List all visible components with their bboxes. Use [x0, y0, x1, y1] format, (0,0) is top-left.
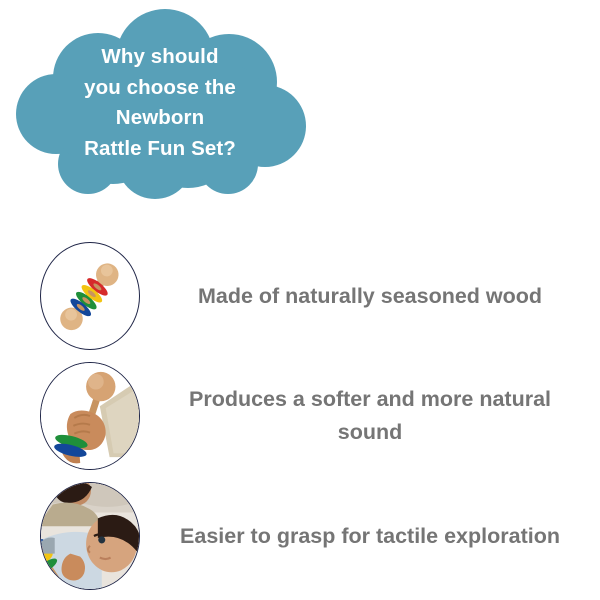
- feature-label: Easier to grasp for tactile exploration: [160, 476, 580, 596]
- callout-title: Why should you choose the Newborn Rattle…: [10, 42, 310, 164]
- wooden-rattle-icon: [41, 243, 139, 349]
- feature-row: Produces a softer and more natural sound: [0, 356, 600, 476]
- hand-holding-rattle-icon: [41, 363, 139, 469]
- feature-list: Made of naturally seasoned wood Produces…: [0, 236, 600, 596]
- feature-thumbnail-1: [40, 242, 140, 350]
- feature-row: Easier to grasp for tactile exploration: [0, 476, 600, 596]
- feature-row: Made of naturally seasoned wood: [0, 236, 600, 356]
- feature-thumbnail-3: [40, 482, 140, 590]
- feature-label: Made of naturally seasoned wood: [160, 236, 580, 356]
- cloud-callout: Why should you choose the Newborn Rattle…: [10, 6, 310, 202]
- baby-with-rattle-icon: [41, 483, 139, 589]
- feature-label: Produces a softer and more natural sound: [160, 356, 580, 476]
- feature-thumbnail-2: [40, 362, 140, 470]
